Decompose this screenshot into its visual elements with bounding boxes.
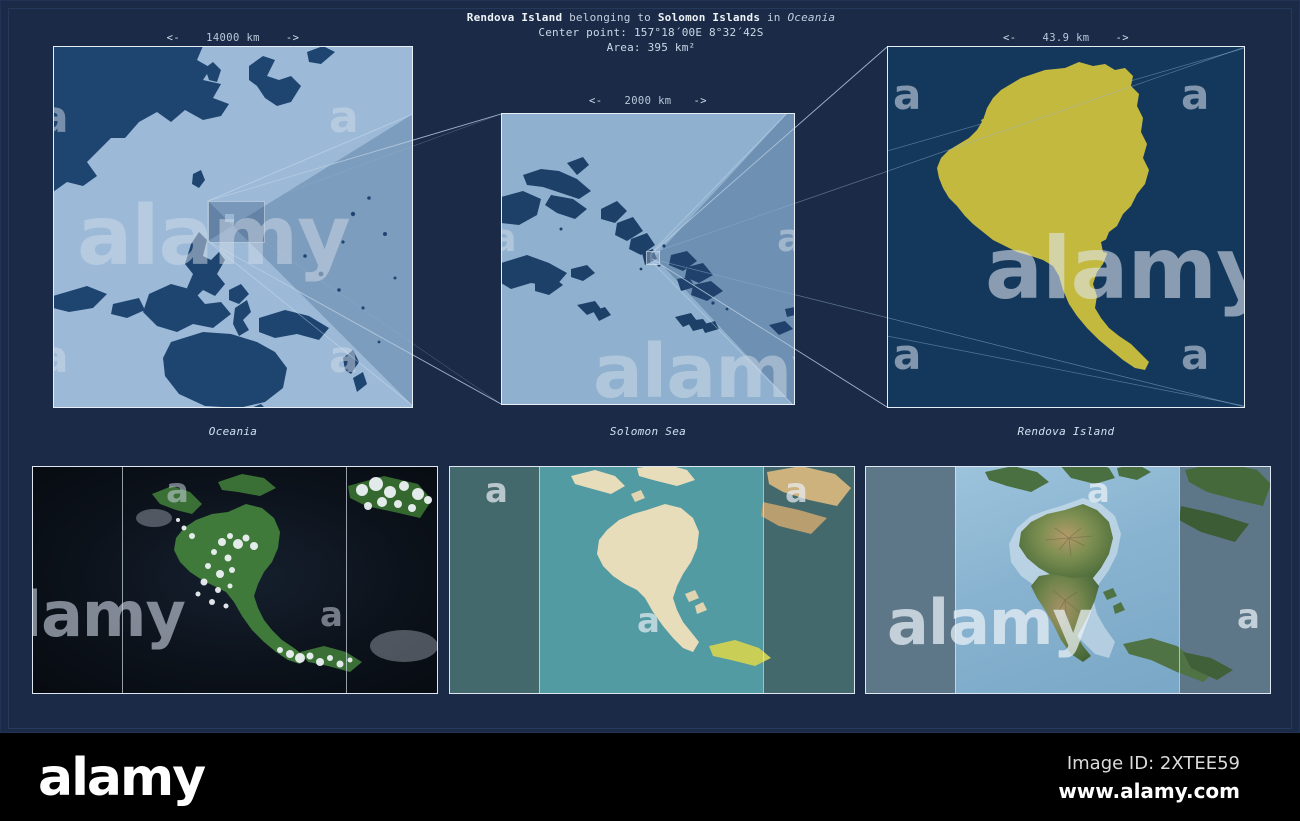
- scale-bar-region: <- 2000 km ->: [501, 95, 795, 107]
- scale-right-arrow: ->: [286, 32, 299, 44]
- alamy-logo: alamy: [38, 752, 204, 804]
- map-panel-solomon-sea[interactable]: alamy a a: [501, 113, 795, 405]
- satellite-landmass: [32, 466, 438, 694]
- image-id-label: Image ID: 2XTEE59: [1067, 753, 1240, 774]
- scale-left-arrow: <-: [589, 95, 602, 107]
- scale-value: 14000 km: [206, 32, 260, 44]
- imagery-panel-relief[interactable]: alamy a a: [865, 466, 1271, 694]
- panel-caption-oceania: Oceania: [53, 425, 413, 438]
- center-point-value: 157°18´00E 8°32´42S: [634, 26, 764, 39]
- tile-divider: [539, 466, 540, 694]
- scale-left-arrow: <-: [167, 32, 180, 44]
- scale-left-arrow: <-: [1003, 32, 1016, 44]
- page-title: Rendova Island belonging to Solomon Isla…: [1, 10, 1300, 25]
- selection-highlight-rect: [208, 201, 265, 243]
- tile-divider: [955, 466, 956, 694]
- alamy-footer-bar: alamy Image ID: 2XTEE59 www.alamy.com: [0, 733, 1300, 821]
- tile-divider: [763, 466, 764, 694]
- tile-divider: [122, 466, 123, 694]
- political-landmass: [449, 466, 855, 694]
- map-diagram: Rendova Island belonging to Solomon Isla…: [0, 0, 1300, 733]
- relief-landmass: [865, 466, 1271, 694]
- scale-value: 43.9 km: [1042, 32, 1089, 44]
- imagery-panel-satellite[interactable]: alamy a a: [32, 466, 438, 694]
- center-point-marker: [225, 214, 234, 222]
- title-subject: Rendova Island: [467, 11, 563, 24]
- area-label: Area:: [607, 41, 641, 54]
- island-shape: [887, 46, 1245, 408]
- panel-caption-rendova-island: Rendova Island: [887, 425, 1245, 438]
- scale-right-arrow: ->: [694, 95, 707, 107]
- scale-bar-world: <- 14000 km ->: [53, 32, 413, 44]
- alamy-website-label: www.alamy.com: [1058, 779, 1240, 803]
- area-value: 395 km²: [648, 41, 696, 54]
- tile-divider: [346, 466, 347, 694]
- scale-right-arrow: ->: [1116, 32, 1129, 44]
- imagery-panel-political[interactable]: a a a: [449, 466, 855, 694]
- title-belonging: belonging to: [569, 11, 651, 24]
- title-country: Solomon Islands: [658, 11, 760, 24]
- map-panel-oceania[interactable]: alamy a a a a: [53, 46, 413, 408]
- panel-caption-solomon-sea: Solomon Sea: [501, 425, 795, 438]
- scale-value: 2000 km: [624, 95, 671, 107]
- title-in: in: [767, 11, 781, 24]
- title-region: Oceania: [787, 11, 835, 24]
- page-root: Rendova Island belonging to Solomon Isla…: [0, 0, 1300, 821]
- selection-highlight-rect: [646, 251, 660, 265]
- map-panel-rendova-island[interactable]: alamy a a a a: [887, 46, 1245, 408]
- tile-divider: [1179, 466, 1180, 694]
- center-point-label: Center point:: [538, 26, 627, 39]
- scale-bar-island: <- 43.9 km ->: [887, 32, 1245, 44]
